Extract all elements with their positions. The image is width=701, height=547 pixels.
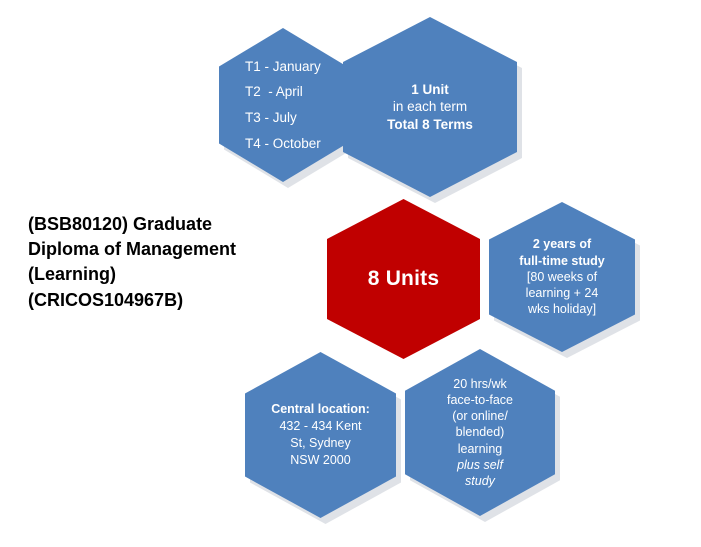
total-units-hexagon[interactable]: 8 Units bbox=[327, 199, 480, 359]
duration-detail-line-3: wks holiday] bbox=[495, 301, 629, 317]
terms-hexagon-content: T1 - January T2 - April T3 - July T4 - O… bbox=[219, 54, 347, 157]
unit-total-terms: Total 8 Terms bbox=[349, 116, 511, 133]
location-address-line-2: St, Sydney bbox=[251, 435, 390, 452]
hours-line-1: 20 hrs/wk bbox=[411, 376, 549, 392]
term-2-label: T2 - April bbox=[245, 79, 341, 105]
duration-heading-line-2: full-time study bbox=[495, 253, 629, 269]
term-3-label: T3 - July bbox=[245, 105, 341, 131]
term-1-label: T1 - January bbox=[245, 54, 341, 80]
study-hours-content: 20 hrs/wk face-to-face (or online/ blend… bbox=[405, 376, 555, 490]
unit-heading: 1 Unit bbox=[349, 81, 511, 98]
course-title: (BSB80120) Graduate Diploma of Managemen… bbox=[28, 212, 313, 313]
unit-subtext: in each term bbox=[349, 98, 511, 115]
location-address-line-1: 432 - 434 Kent bbox=[251, 418, 390, 435]
hours-note-line-2: study bbox=[411, 473, 549, 489]
location-hexagon-content: Central location: 432 - 434 Kent St, Syd… bbox=[245, 401, 396, 469]
term-4-label: T4 - October bbox=[245, 131, 341, 157]
hours-note-line-1: plus self bbox=[411, 457, 549, 473]
total-units-content: 8 Units bbox=[327, 266, 480, 293]
hours-line-5: learning bbox=[411, 441, 549, 457]
duration-detail-line-2: learning + 24 bbox=[495, 285, 629, 301]
hours-line-2: face-to-face bbox=[411, 392, 549, 408]
location-heading: Central location: bbox=[251, 401, 390, 418]
location-postcode: NSW 2000 bbox=[251, 452, 390, 469]
course-title-line-3: (Learning) bbox=[28, 262, 313, 287]
unit-hexagon-content: 1 Unit in each term Total 8 Terms bbox=[343, 81, 517, 133]
course-title-line-2: Diploma of Management bbox=[28, 237, 313, 262]
diagram-canvas: T1 - January T2 - April T3 - July T4 - O… bbox=[0, 0, 701, 547]
duration-hexagon-content: 2 years of full-time study [80 weeks of … bbox=[489, 236, 635, 317]
hours-line-3: (or online/ bbox=[411, 408, 549, 424]
hours-line-4: blended) bbox=[411, 424, 549, 440]
course-title-line-4: (CRICOS104967B) bbox=[28, 288, 313, 313]
duration-heading-line-1: 2 years of bbox=[495, 236, 629, 252]
duration-detail-line-1: [80 weeks of bbox=[495, 269, 629, 285]
total-units-label: 8 Units bbox=[333, 266, 474, 293]
course-title-line-1: (BSB80120) Graduate bbox=[28, 212, 313, 237]
